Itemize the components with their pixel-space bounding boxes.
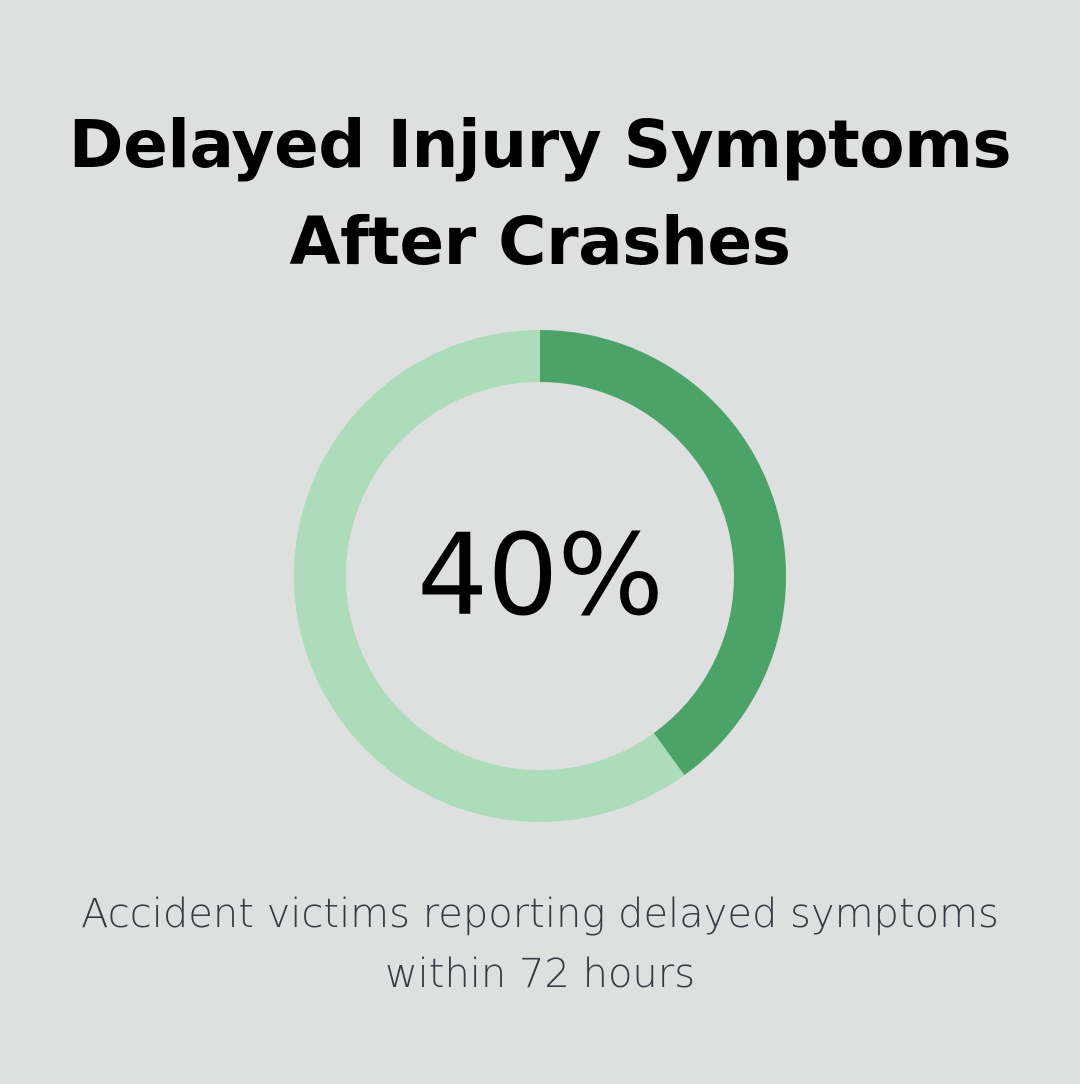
infographic-canvas: Delayed Injury Symptoms After Crashes 40… xyxy=(0,0,1080,1084)
title-line-2: After Crashes xyxy=(40,193,1040,290)
page-title: Delayed Injury Symptoms After Crashes xyxy=(40,96,1040,290)
caption-line-2: within 72 hours xyxy=(20,944,1060,1004)
donut-gauge-chart: 40% xyxy=(294,330,786,822)
caption-line-1: Accident victims reporting delayed sympt… xyxy=(20,884,1060,944)
donut-gauge-svg xyxy=(294,330,786,822)
caption: Accident victims reporting delayed sympt… xyxy=(20,884,1060,1004)
title-line-1: Delayed Injury Symptoms xyxy=(40,96,1040,193)
